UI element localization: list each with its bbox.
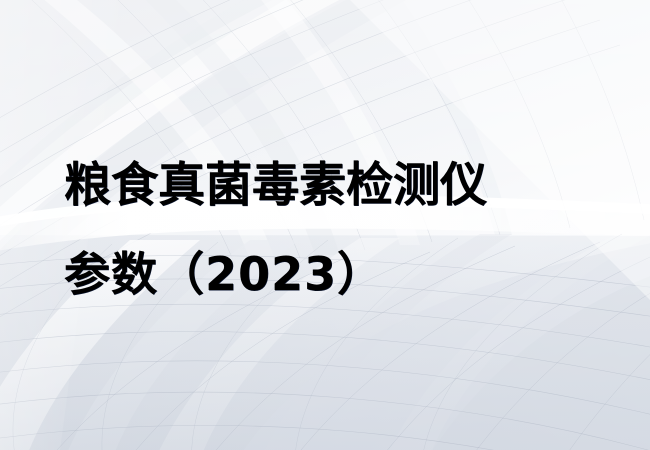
- banner-title: 粮食真菌毒素检测仪 参数（2023）: [64, 142, 624, 318]
- title-line-1: 粮食真菌毒素检测仪: [64, 142, 624, 230]
- title-banner-image: 粮食真菌毒素检测仪 参数（2023）: [0, 0, 650, 450]
- title-line-2: 参数（2023）: [64, 230, 624, 318]
